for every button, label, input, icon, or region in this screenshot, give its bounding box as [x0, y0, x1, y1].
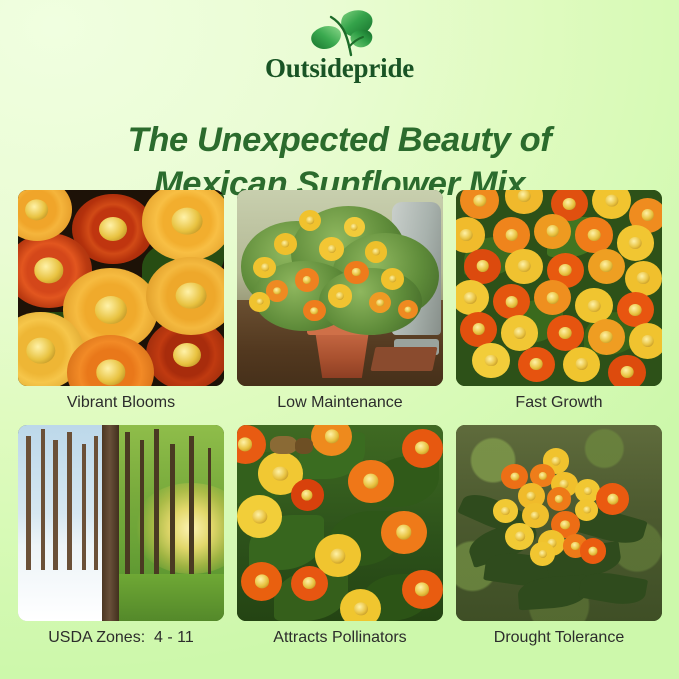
feature-cell-drought-tolerance: Drought Tolerance — [456, 425, 662, 649]
feature-grid: Vibrant Blooms — [18, 190, 662, 648]
brand-wordmark: Outsidepride — [0, 55, 679, 82]
feature-cell-usda-zones: USDA Zones: 4 - 11 — [18, 425, 224, 649]
feature-cell-low-maintenance: Low Maintenance — [237, 190, 443, 414]
page-title-line-1: The Unexpected Beauty of — [0, 119, 679, 163]
feature-cell-fast-growth: Fast Growth — [456, 190, 662, 414]
feature-cell-attracts-pollinators: Attracts Pollinators — [237, 425, 443, 649]
feature-image-vibrant-blooms — [18, 190, 224, 386]
feature-cell-vibrant-blooms: Vibrant Blooms — [18, 190, 224, 414]
feature-image-drought-tolerance — [456, 425, 662, 621]
feature-image-low-maintenance — [237, 190, 443, 386]
feature-caption: Attracts Pollinators — [237, 627, 443, 649]
feature-caption: Vibrant Blooms — [18, 392, 224, 414]
feature-image-usda-zones — [18, 425, 224, 621]
brand-logo: Outsidepride — [0, 6, 679, 82]
three-leaf-sprig-icon — [297, 6, 383, 58]
feature-caption: Drought Tolerance — [456, 627, 662, 649]
poster: Outsidepride The Unexpected Beauty of Me… — [0, 0, 679, 679]
feature-image-attracts-pollinators — [237, 425, 443, 621]
feature-caption: Fast Growth — [456, 392, 662, 414]
feature-caption: USDA Zones: 4 - 11 — [18, 627, 224, 649]
feature-image-fast-growth — [456, 190, 662, 386]
feature-caption: Low Maintenance — [237, 392, 443, 414]
